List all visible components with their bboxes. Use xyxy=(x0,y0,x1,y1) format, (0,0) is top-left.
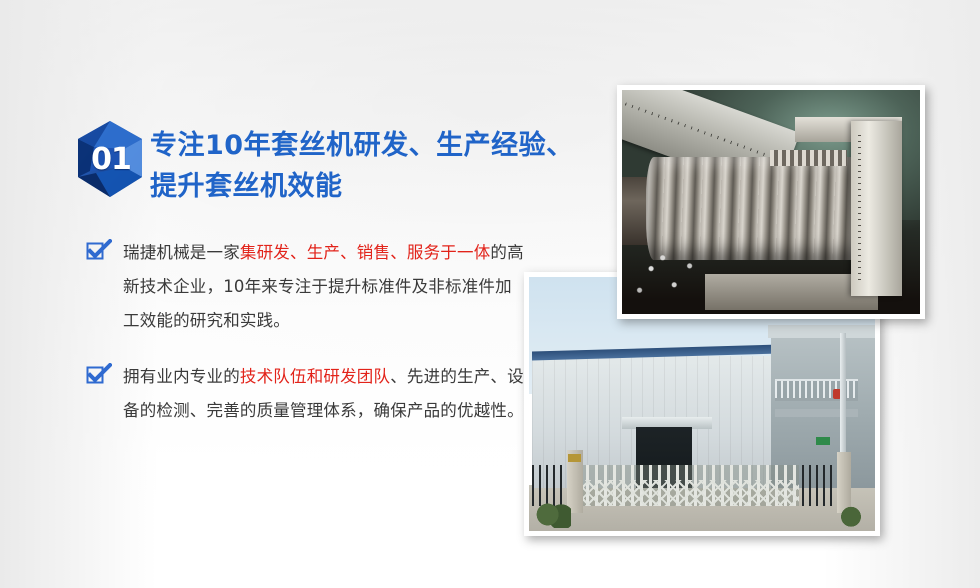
page-title: 专注10年套丝机研发、生产经验、 提升套丝机效能 xyxy=(150,125,530,207)
caliper-scale xyxy=(851,121,902,296)
pillar-plaque xyxy=(568,454,580,463)
hexagon-gem-badge: 01 xyxy=(74,119,146,199)
coolant-splash xyxy=(628,247,705,301)
bullet-list: 瑞捷机械是一家集研发、生产、销售、服务于一体的高新技术企业，10年来专注于提升标… xyxy=(86,236,526,450)
threaded-pipe-caliper-photo xyxy=(617,85,925,319)
bullet-text-1: 瑞捷机械是一家集研发、生产、销售、服务于一体的高新技术企业，10年来专注于提升标… xyxy=(123,236,526,338)
checkbox-check-icon xyxy=(86,239,112,263)
fence-left xyxy=(532,465,570,506)
bullet-seg: 瑞捷机械是一家 xyxy=(123,243,240,262)
bullet-seg: 拥有业内专业的 xyxy=(123,367,240,386)
badge-number: 01 xyxy=(74,119,147,199)
promo-banner: 01 专注10年套丝机研发、生产经验、 提升套丝机效能 瑞捷机械是一家集研发、生… xyxy=(0,0,980,588)
shrub-left xyxy=(532,501,570,529)
title-line-2: 提升套丝机效能 xyxy=(150,166,530,207)
exit-sign xyxy=(816,437,830,445)
bullet-seg-highlight: 技术队伍和研发团队 xyxy=(240,367,390,386)
list-item: 拥有业内专业的技术队伍和研发团队、先进的生产、设备的检测、完善的质量管理体系，确… xyxy=(86,360,526,428)
content-column: 01 专注10年套丝机研发、生产经验、 提升套丝机效能 瑞捷机械是一家集研发、生… xyxy=(0,0,540,588)
bullet-text-2: 拥有业内专业的技术队伍和研发团队、先进的生产、设备的检测、完善的质量管理体系，确… xyxy=(123,360,526,428)
threaded-section xyxy=(646,157,861,260)
threaded-pipe-image xyxy=(622,90,920,314)
annex-roof xyxy=(768,325,875,338)
office-annex xyxy=(771,328,875,488)
gate-lattice xyxy=(577,480,798,505)
title-line-1: 专注10年套丝机研发、生产经验、 xyxy=(150,130,574,161)
checkbox-check-icon xyxy=(86,363,112,387)
shrub-right xyxy=(834,503,869,528)
bullet-seg-highlight: 集研发、生产、销售、服务于一体 xyxy=(240,243,491,262)
list-item: 瑞捷机械是一家集研发、生产、销售、服务于一体的高新技术企业，10年来专注于提升标… xyxy=(86,236,526,338)
